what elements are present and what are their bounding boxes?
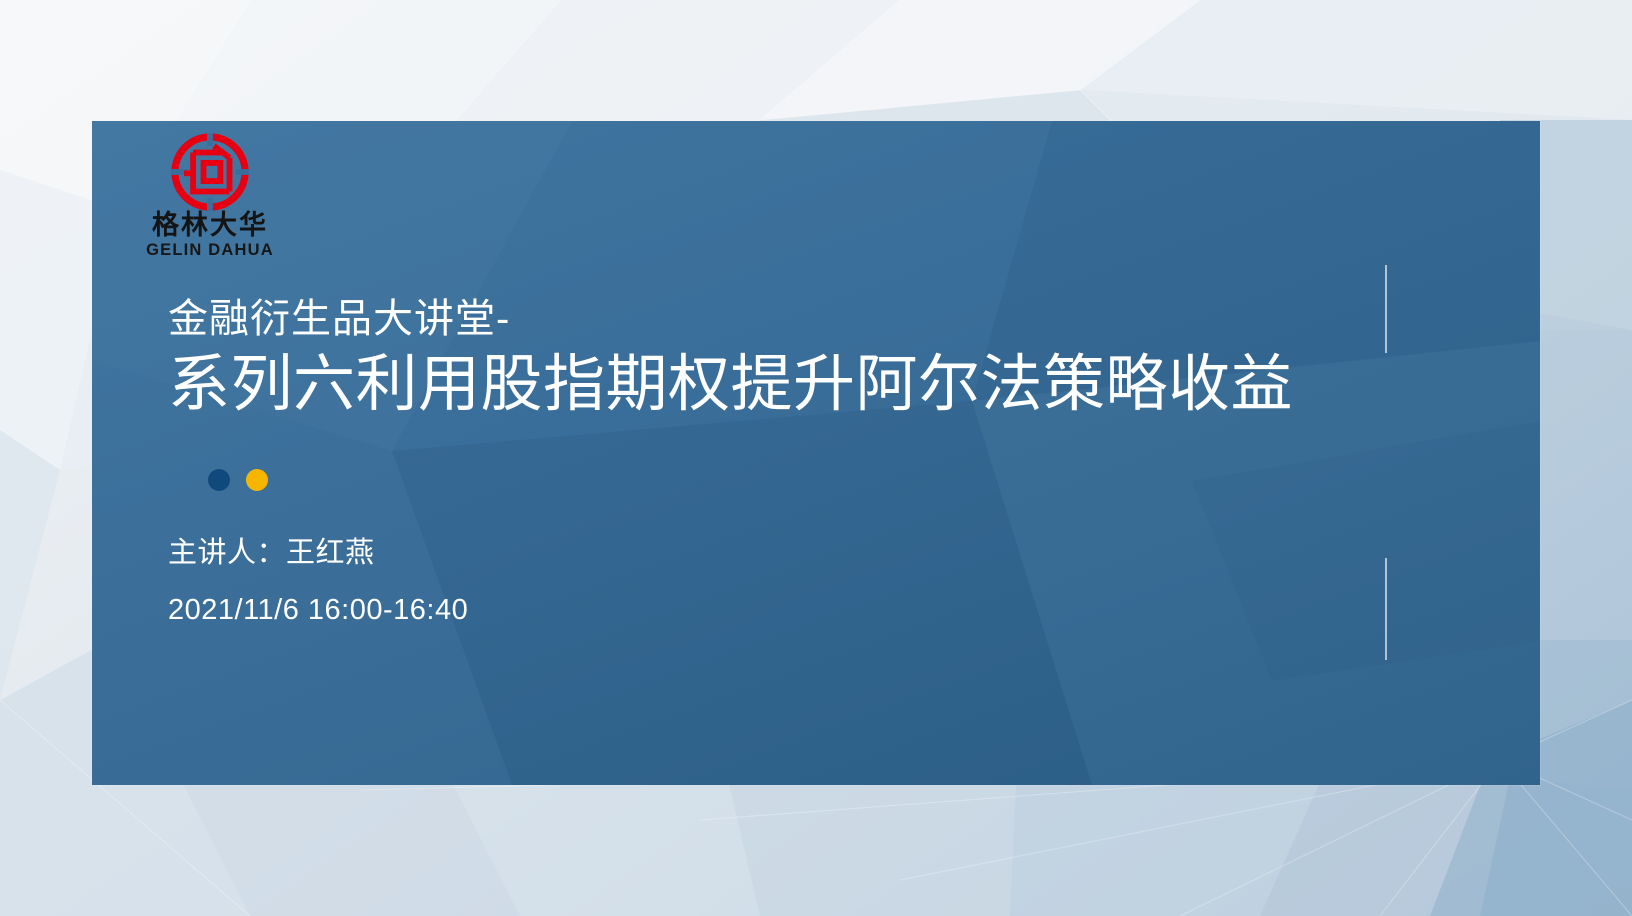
title-slide: 格林大华 GELIN DAHUA 金融衍生品大讲堂- 系列六利用股指期权提升阿尔… <box>0 0 1632 916</box>
accent-rule-bottom <box>1385 558 1387 660</box>
title-text-block: 金融衍生品大讲堂- 系列六利用股指期权提升阿尔法策略收益 主讲人：王红燕 202… <box>168 296 1500 625</box>
content-panel: 格林大华 GELIN DAHUA 金融衍生品大讲堂- 系列六利用股指期权提升阿尔… <box>92 121 1540 785</box>
logo-name-en: GELIN DAHUA <box>120 241 300 260</box>
amber-dot-icon <box>246 469 268 491</box>
navy-dot-icon <box>208 469 230 491</box>
decorative-dots <box>208 469 1500 491</box>
speaker-line: 主讲人：王红燕 <box>168 539 1500 568</box>
presenter-meta: 主讲人：王红燕 2021/11/6 16:00-16:40 <box>168 539 1500 625</box>
slide-kicker: 金融衍生品大讲堂- <box>168 296 1500 342</box>
logo-name-cn: 格林大华 <box>120 212 300 240</box>
datetime-line: 2021/11/6 16:00-16:40 <box>168 596 1500 625</box>
gelin-dahua-seal-icon <box>157 133 263 211</box>
slide-headline: 系列六利用股指期权提升阿尔法策略收益 <box>168 348 1500 421</box>
accent-rule-top <box>1385 265 1387 353</box>
brand-logo: 格林大华 GELIN DAHUA <box>120 133 300 260</box>
